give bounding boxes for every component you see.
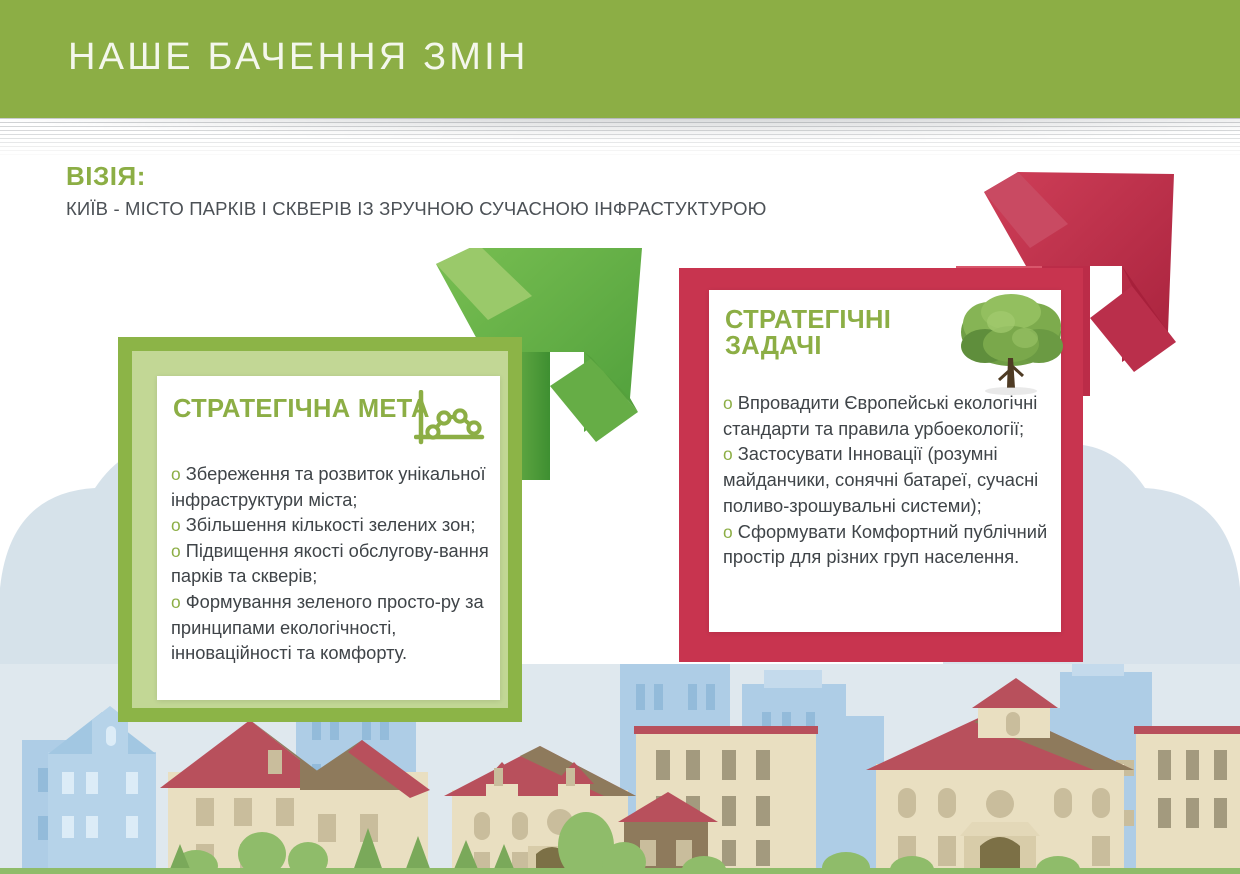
strategic-goal-card: СТРАТЕГІЧНА МЕТА o Збереження та розвито…: [118, 337, 522, 722]
bullet-marker: o: [171, 541, 181, 561]
list-item-text: Застосувати Інновації (розумні майданчик…: [723, 443, 1038, 515]
list-item: o Збільшення кількості зелених зон;: [171, 512, 492, 538]
header-bar: НАШЕ БАЧЕННЯ ЗМІН: [0, 0, 1240, 118]
list-item-text: Сформувати Комфортний публічний простір …: [723, 521, 1047, 568]
strategic-goal-bullets: o Збереження та розвиток унікальної інфр…: [171, 461, 492, 666]
bullet-marker: o: [171, 464, 181, 484]
vision-label: ВІЗІЯ:: [66, 161, 146, 192]
list-item: o Сформувати Комфортний публічний прості…: [723, 519, 1053, 570]
red-card-content: СТРАТЕГІЧНІ ЗАДАЧІ o Впровадити Європейс…: [709, 290, 1061, 632]
bullet-marker: o: [171, 515, 181, 535]
bullet-marker: o: [723, 522, 733, 542]
tree-icon: [955, 288, 1067, 400]
list-item: o Формування зеленого просто-ру за принц…: [171, 589, 492, 666]
strategic-tasks-card: СТРАТЕГІЧНІ ЗАДАЧІ o Впровадити Європейс…: [679, 268, 1083, 662]
bullet-marker: o: [723, 444, 733, 464]
list-item: o Збереження та розвиток унікальної інфр…: [171, 461, 492, 512]
bullet-marker: o: [723, 393, 733, 413]
page-title: НАШЕ БАЧЕННЯ ЗМІН: [68, 36, 529, 79]
vision-statement: КИЇВ - МІСТО ПАРКІВ І СКВЕРІВ ІЗ ЗРУЧНОЮ…: [66, 198, 766, 220]
list-item-text: Збереження та розвиток унікальної інфрас…: [171, 463, 486, 510]
green-card-content: СТРАТЕГІЧНА МЕТА o Збереження та розвито…: [157, 376, 500, 700]
strategic-tasks-title: СТРАТЕГІЧНІ ЗАДАЧІ: [725, 307, 940, 359]
list-item-text: Збільшення кількості зелених зон;: [186, 514, 476, 535]
list-item: o Застосувати Інновації (розумні майданч…: [723, 441, 1053, 518]
list-item: o Підвищення якості обслугову-вання парк…: [171, 538, 492, 589]
list-item-text: Підвищення якості обслугову-вання парків…: [171, 540, 489, 587]
strategic-tasks-bullets: o Впровадити Європейські екологічні стан…: [723, 390, 1053, 570]
line-chart-icon: [414, 390, 486, 450]
strategic-goal-title: СТРАТЕГІЧНА МЕТА: [173, 396, 430, 422]
slide-canvas: НАШЕ БАЧЕННЯ ЗМІН ВІЗІЯ: КИЇВ - МІСТО ПА…: [0, 0, 1240, 874]
bullet-marker: o: [171, 592, 181, 612]
list-item: o Впровадити Європейські екологічні стан…: [723, 390, 1053, 441]
list-item-text: Впровадити Європейські екологічні станда…: [723, 392, 1037, 439]
list-item-text: Формування зеленого просто-ру за принцип…: [171, 591, 484, 663]
